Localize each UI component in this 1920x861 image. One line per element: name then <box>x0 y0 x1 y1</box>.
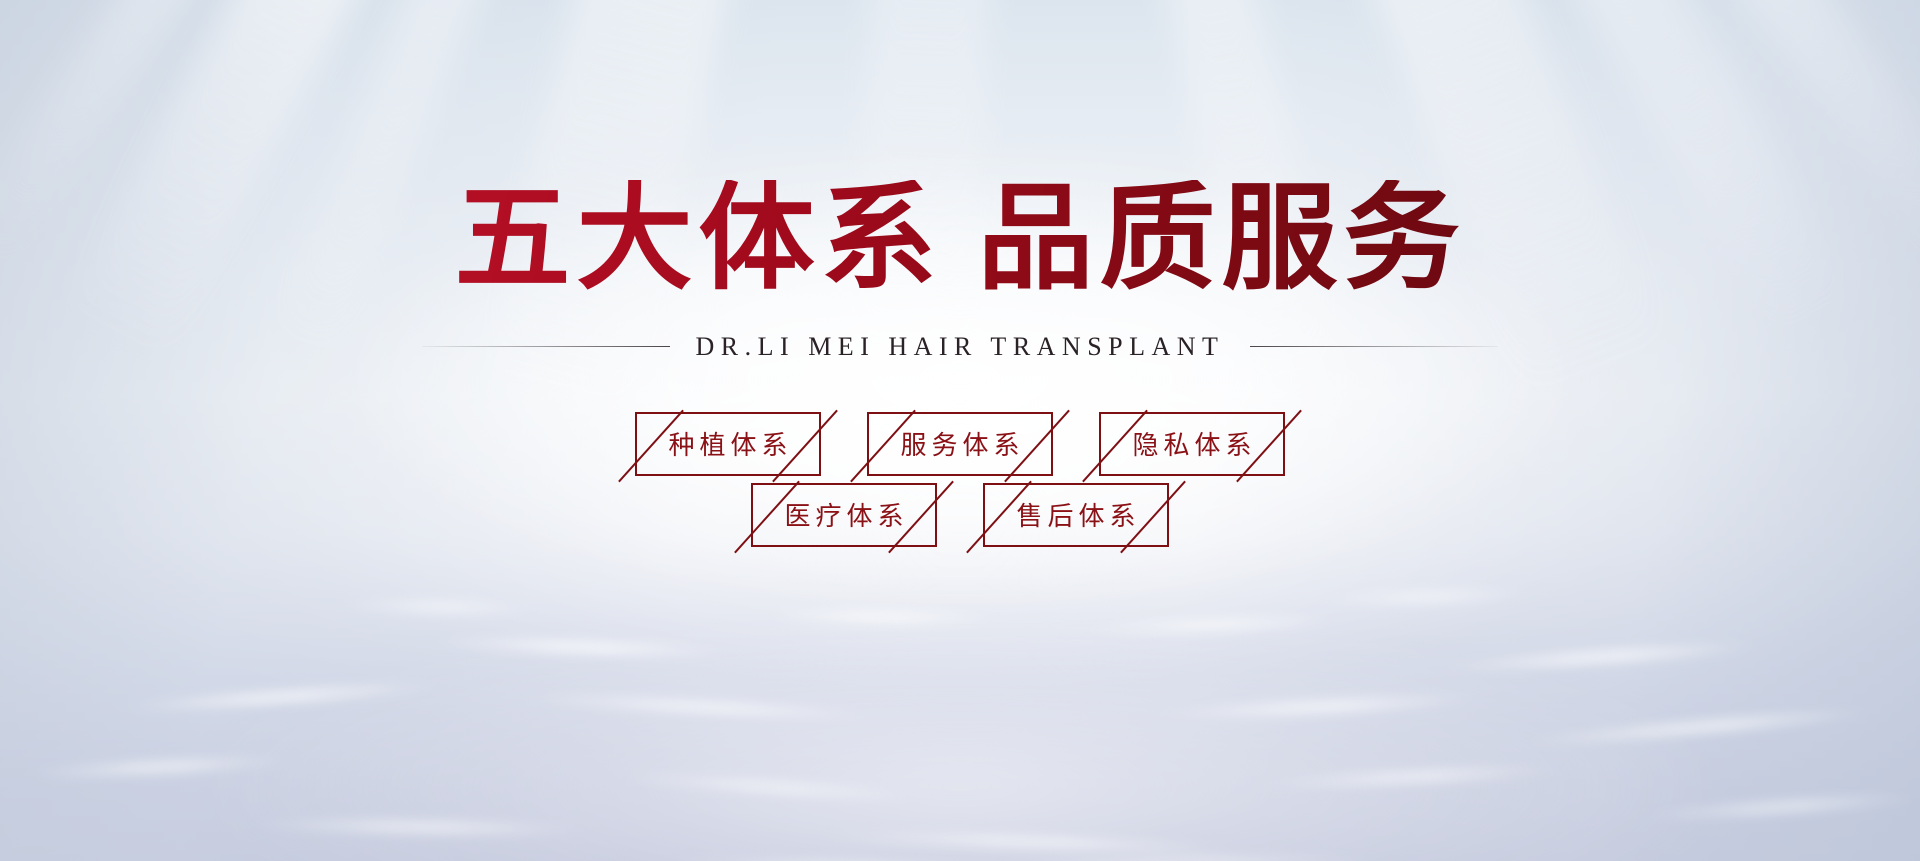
service-tag-row: 种植体系服务体系隐私体系 <box>635 412 1285 476</box>
service-tag-label: 种植体系 <box>663 425 792 462</box>
service-tag-label: 隐私体系 <box>1127 425 1256 462</box>
service-tag-row: 医疗体系售后体系 <box>751 483 1169 547</box>
subtitle-rule-right <box>1250 346 1498 347</box>
service-tag-label: 售后体系 <box>1011 496 1140 533</box>
service-tag[interactable]: 服务体系 <box>867 412 1053 476</box>
service-tag[interactable]: 种植体系 <box>635 412 821 476</box>
subtitle-rule-left <box>422 346 670 347</box>
subtitle-text: DR.LI MEI HAIR TRANSPLANT <box>696 332 1225 362</box>
banner-content: 五大体系 品质服务 DR.LI MEI HAIR TRANSPLANT 种植体系… <box>0 0 1920 861</box>
service-tag[interactable]: 售后体系 <box>983 483 1169 547</box>
page-title: 五大体系 品质服务 <box>455 180 1466 302</box>
service-tag[interactable]: 隐私体系 <box>1099 412 1285 476</box>
service-tag-label: 服务体系 <box>895 425 1024 462</box>
promo-banner: 五大体系 品质服务 DR.LI MEI HAIR TRANSPLANT 种植体系… <box>0 0 1920 861</box>
service-tag-label: 医疗体系 <box>779 496 908 533</box>
service-tag[interactable]: 医疗体系 <box>751 483 937 547</box>
subtitle-row: DR.LI MEI HAIR TRANSPLANT <box>422 332 1499 362</box>
service-tag-group: 种植体系服务体系隐私体系医疗体系售后体系 <box>635 412 1285 547</box>
